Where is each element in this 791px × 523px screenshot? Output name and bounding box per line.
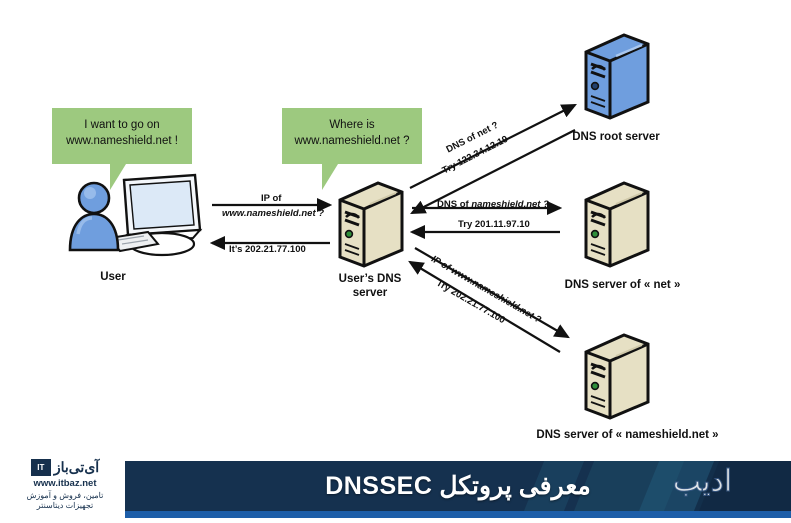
edge-label-prefix: DNS of [437,199,471,210]
bubble-line-1: Where is [292,117,412,133]
dns-authoritative-server-icon [578,330,654,422]
calligraphy-watermark: ادیب [620,452,785,514]
bubble-line-2: www.nameshield.net ! [62,133,182,149]
edge-label-domain: nameshield.net ? [471,199,549,210]
node-label-user: User [78,270,148,284]
bubble-line-2: www.nameshield.net ? [292,133,412,149]
users-dns-server-icon [332,178,408,270]
edge-label-user-to-dns-query-line1: IP of [261,193,281,204]
edge-label-dns-to-user-answer: It’s 202.21.77.100 [229,244,306,255]
logo-url[interactable]: www.itbaz.net [10,478,120,489]
node-label-line-1: User’s DNS [339,273,402,285]
logo-name: آی‌تی‌باز [54,459,99,476]
node-label-line-2: server [353,287,388,299]
edge-label-dns-to-net-query: DNS of nameshield.net ? [437,199,549,210]
itbaz-logo[interactable]: آی‌تی‌باز IT www.itbaz.net تامین، فروش و… [10,459,120,519]
node-label-dns-net-server: DNS server of « net » [540,278,705,292]
node-label-dns-root-server: DNS root server [556,130,676,144]
node-label-users-dns-server: User’s DNS server [318,272,422,300]
logo-row: آی‌تی‌باز IT [10,459,120,476]
dns-net-server-icon [578,178,654,270]
edge-label-user-to-dns-query-line2: www.nameshield.net ? [222,208,324,219]
edge-label-net-to-dns-answer: Try 201.11.97.10 [458,219,530,230]
speech-bubble-user-request: I want to go on www.nameshield.net ! [52,108,192,164]
dns-root-server-icon [578,30,654,122]
logo-tagline-line-1: تامین، فروش و آموزش [27,491,104,500]
logo-tagline: تامین، فروش و آموزش تجهیزات دیتاسنتر [10,491,120,511]
bubble-line-1: I want to go on [62,117,182,133]
speech-bubble-dns-query: Where is www.nameshield.net ? [282,108,422,164]
logo-badge: IT [31,459,51,476]
node-label-dns-authoritative-server: DNS server of « nameshield.net » [505,428,750,442]
logo-tagline-line-2: تجهیزات دیتاسنتر [37,501,93,510]
diagram-canvas: I want to go on www.nameshield.net ! Whe… [0,0,791,523]
user-workstation-icon [62,172,212,267]
